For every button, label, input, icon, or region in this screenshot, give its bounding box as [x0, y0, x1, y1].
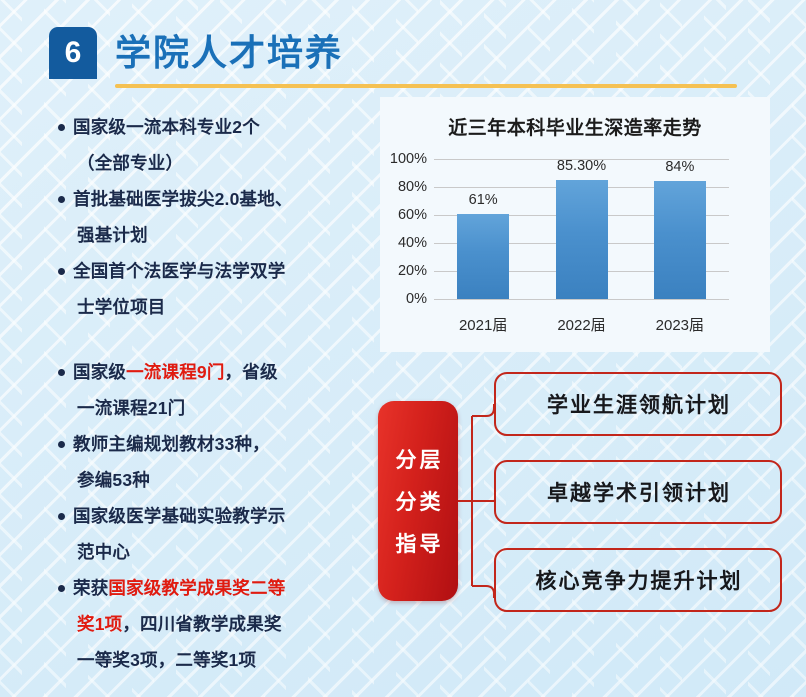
list-item-text: 参编53种	[77, 465, 150, 495]
plain-text: ，四川省教学成果奖	[122, 614, 281, 634]
plain-text: 全国首个法医学与法学双学	[73, 261, 285, 281]
list-item: 一等奖3项，二等奖1项	[58, 645, 358, 675]
list-item: 国家级一流本科专业2个	[58, 112, 358, 142]
diagram-hub-line: 分层	[393, 444, 444, 474]
bullet-list-top: 国家级一流本科专业2个（全部专业）首批基础医学拔尖2.0基地、强基计划全国首个法…	[58, 112, 358, 328]
list-item: 教师主编规划教材33种，	[58, 429, 358, 459]
bullet-dot-icon	[58, 369, 65, 376]
section-number-badge: 6	[49, 27, 97, 79]
bullet-dot-icon	[58, 124, 65, 131]
slide-canvas: 6 学院人才培养 国家级一流本科专业2个（全部专业）首批基础医学拔尖2.0基地、…	[0, 0, 806, 697]
chart-x-axis-tick: 2023届	[656, 314, 704, 335]
chart-bar-value-label: 85.30%	[557, 158, 606, 174]
chart-bar-value-label: 61%	[469, 192, 498, 208]
chart-panel: 近三年本科毕业生深造率走势 100%80%60%40%20%0%61%2021届…	[380, 97, 770, 352]
diagram-hub-node: 分层分类指导	[378, 401, 458, 601]
tiered-guidance-diagram: 分层分类指导 学业生涯领航计划 卓越学术引领计划 核心竞争力提升计划	[378, 372, 798, 630]
list-item-text: （全部专业）	[77, 148, 183, 178]
list-item-text: 全国首个法医学与法学双学	[73, 256, 285, 286]
title-underline	[115, 84, 737, 88]
list-item-text: 教师主编规划教材33种，	[73, 429, 270, 459]
chart-bar	[654, 181, 706, 299]
chart-y-axis-tick: 0%	[406, 291, 427, 307]
diagram-branch-box[interactable]: 核心竞争力提升计划	[494, 548, 782, 612]
list-item: 士学位项目	[58, 292, 358, 322]
list-item-text: 强基计划	[77, 220, 148, 250]
bullet-dot-icon	[58, 268, 65, 275]
chart-bar	[556, 180, 608, 299]
diagram-connector-lines	[458, 372, 498, 630]
diagram-branch-box[interactable]: 卓越学术引领计划	[494, 460, 782, 524]
diagram-hub-line: 指导	[393, 528, 444, 558]
plain-text: 国家级	[73, 362, 126, 382]
bullet-dot-icon	[58, 441, 65, 448]
list-item: 参编53种	[58, 465, 358, 495]
list-item: 首批基础医学拔尖2.0基地、	[58, 184, 358, 214]
chart-bar	[457, 214, 509, 299]
list-item-text: 士学位项目	[77, 292, 166, 322]
chart-plot-area: 100%80%60%40%20%0%61%2021届85.30%2022届84%…	[434, 159, 729, 299]
list-item: 国家级医学基础实验教学示	[58, 501, 358, 531]
list-item: 一流课程21门	[58, 393, 358, 423]
list-item: 国家级一流课程9门，省级	[58, 357, 358, 387]
chart-x-axis-tick: 2022届	[557, 314, 605, 335]
chart-y-axis-tick: 100%	[390, 151, 427, 167]
list-item: 范中心	[58, 537, 358, 567]
plain-text: 一流课程21门	[77, 398, 185, 418]
plain-text: 一等奖3项，二等奖1项	[77, 650, 256, 670]
list-item-text: 国家级医学基础实验教学示	[73, 501, 285, 531]
plain-text: 士学位项目	[77, 297, 166, 317]
diagram-branch-box[interactable]: 学业生涯领航计划	[494, 372, 782, 436]
list-item-text: 首批基础医学拔尖2.0基地、	[73, 184, 293, 214]
diagram-hub-line: 分类	[393, 486, 444, 516]
list-item-text: 范中心	[77, 537, 130, 567]
list-item-text: 奖1项，四川省教学成果奖	[77, 609, 282, 639]
plain-text: 国家级医学基础实验教学示	[73, 506, 285, 526]
plain-text: 荣获	[73, 578, 108, 598]
list-item: 奖1项，四川省教学成果奖	[58, 609, 358, 639]
plain-text: 参编53种	[77, 470, 150, 490]
bullet-dot-icon	[58, 196, 65, 203]
plain-text: 首批基础医学拔尖2.0基地、	[73, 189, 293, 209]
chart-y-axis-tick: 20%	[398, 263, 427, 279]
chart-title: 近三年本科毕业生深造率走势	[380, 113, 770, 140]
section-header: 6 学院人才培养	[49, 27, 754, 89]
diagram-branch-label: 核心竞争力提升计划	[534, 565, 743, 595]
chart-x-axis-tick: 2021届	[459, 314, 507, 335]
bullet-list-bottom: 国家级一流课程9门，省级一流课程21门教师主编规划教材33种，参编53种国家级医…	[58, 357, 358, 681]
plain-text: 范中心	[77, 542, 130, 562]
highlighted-text: 奖1项	[77, 614, 122, 634]
list-item-text: 国家级一流本科专业2个	[73, 112, 260, 142]
chart-gridline: 0%	[434, 299, 729, 300]
bullet-dot-icon	[58, 513, 65, 520]
plain-text: 教师主编规划教材33种，	[73, 434, 270, 454]
list-item-text: 荣获国家级教学成果奖二等	[73, 573, 285, 603]
chart-y-axis-tick: 40%	[398, 235, 427, 251]
chart-y-axis-tick: 80%	[398, 179, 427, 195]
chart-y-axis-tick: 60%	[398, 207, 427, 223]
chart-bar-value-label: 84%	[665, 159, 694, 175]
list-item-text: 国家级一流课程9门，省级	[73, 357, 278, 387]
diagram-branch-label: 学业生涯领航计划	[545, 389, 731, 419]
plain-text: （全部专业）	[77, 153, 183, 173]
list-item-text: 一流课程21门	[77, 393, 185, 423]
plain-text: ，省级	[225, 362, 278, 382]
list-item: 荣获国家级教学成果奖二等	[58, 573, 358, 603]
page-title: 学院人才培养	[115, 29, 343, 77]
highlighted-text: 一流课程9门	[126, 362, 224, 382]
bullet-dot-icon	[58, 585, 65, 592]
plain-text: 国家级一流本科专业2个	[73, 117, 260, 137]
plain-text: 强基计划	[77, 225, 148, 245]
highlighted-text: 国家级教学成果奖二等	[108, 578, 285, 598]
list-item: （全部专业）	[58, 148, 358, 178]
list-item: 全国首个法医学与法学双学	[58, 256, 358, 286]
diagram-branch-label: 卓越学术引领计划	[545, 477, 731, 507]
list-item: 强基计划	[58, 220, 358, 250]
list-item-text: 一等奖3项，二等奖1项	[77, 645, 256, 675]
